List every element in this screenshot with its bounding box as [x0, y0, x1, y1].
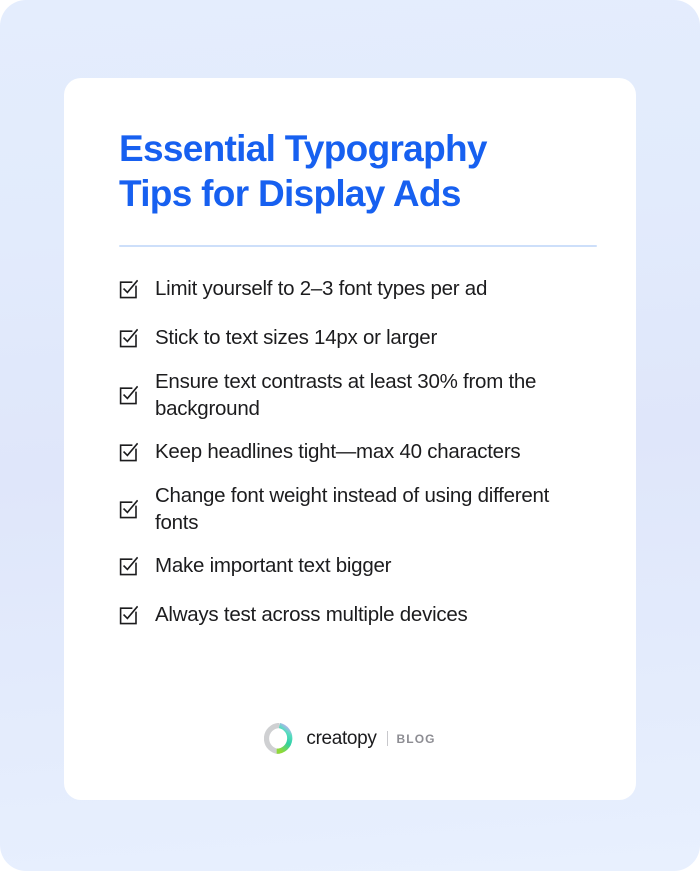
page-title: Essential Typography Tips for Display Ad… — [119, 126, 609, 216]
list-item-label: Stick to text sizes 14px or larger — [155, 325, 437, 352]
checkbox-checked-icon — [119, 442, 138, 463]
checkbox-checked-icon — [119, 279, 138, 300]
checklist: Limit yourself to 2–3 font types per ad … — [119, 271, 607, 646]
list-item: Always test across multiple devices — [119, 597, 607, 633]
title-divider — [119, 245, 597, 247]
page-title-line-1: Essential Typography — [119, 126, 609, 171]
list-item-label: Make important text bigger — [155, 553, 391, 580]
list-item-label: Ensure text contrasts at least 30% from … — [155, 369, 595, 423]
list-item-label: Change font weight instead of using diff… — [155, 483, 595, 537]
checkbox-checked-icon — [119, 556, 138, 577]
checkbox-checked-icon — [119, 499, 138, 520]
checkbox-checked-icon — [119, 385, 138, 406]
list-item: Stick to text sizes 14px or larger — [119, 320, 607, 356]
creatopy-wordmark: creatopy — [306, 729, 376, 748]
list-item-label: Always test across multiple devices — [155, 602, 468, 629]
list-item: Make important text bigger — [119, 548, 607, 584]
footer-branding: creatopy BLOG — [64, 723, 636, 754]
list-item: Limit yourself to 2–3 font types per ad — [119, 271, 607, 307]
list-item-label: Limit yourself to 2–3 font types per ad — [155, 276, 487, 303]
content-card: Essential Typography Tips for Display Ad… — [64, 78, 636, 800]
list-item: Ensure text contrasts at least 30% from … — [119, 369, 607, 423]
poster-canvas: Essential Typography Tips for Display Ad… — [0, 0, 700, 871]
logo-separator — [387, 731, 388, 746]
checkbox-checked-icon — [119, 605, 138, 626]
creatopy-ring-logo-icon — [264, 723, 295, 754]
list-item: Change font weight instead of using diff… — [119, 483, 607, 537]
blog-label: BLOG — [397, 733, 436, 745]
page-title-line-2: Tips for Display Ads — [119, 171, 609, 216]
checkbox-checked-icon — [119, 328, 138, 349]
list-item: Keep headlines tight—max 40 characters — [119, 435, 607, 471]
list-item-label: Keep headlines tight—max 40 characters — [155, 439, 520, 466]
